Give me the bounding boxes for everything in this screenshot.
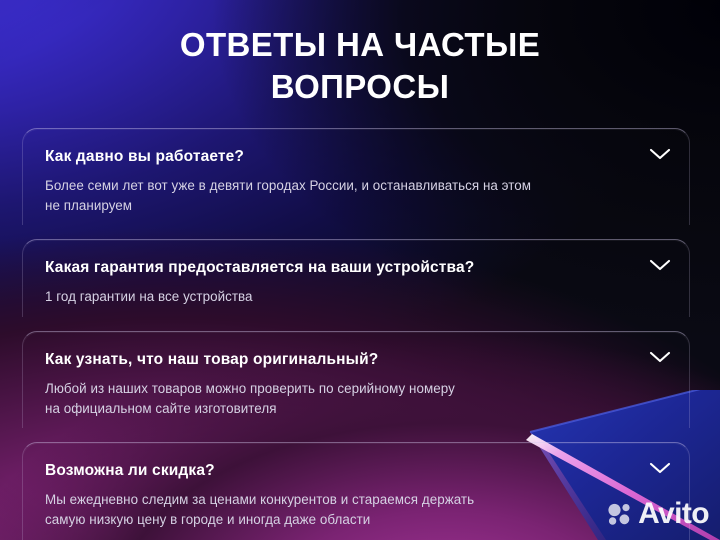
faq-item-3[interactable]: Как узнать, что наш товар оригинальный? …: [22, 331, 690, 428]
faq-answer-2: 1 год гарантии на все устройства: [45, 287, 637, 307]
page-title-line-2: ВОПРОСЫ: [0, 66, 720, 108]
faq-answer-4: Мы ежедневно следим за ценами конкуренто…: [45, 490, 637, 529]
faq-item-2[interactable]: Какая гарантия предоставляется на ваши у…: [22, 239, 690, 317]
chevron-down-icon[interactable]: [649, 461, 671, 475]
faq-answer-1: Более семи лет вот уже в девяти городах …: [45, 176, 637, 215]
chevron-down-icon[interactable]: [649, 258, 671, 272]
faq-answer-3: Любой из наших товаров можно проверить п…: [45, 379, 637, 418]
faq-item-1[interactable]: Как давно вы работаете? Более семи лет в…: [22, 128, 690, 225]
chevron-down-icon[interactable]: [649, 147, 671, 161]
faq-item-4[interactable]: Возможна ли скидка? Мы ежедневно следим …: [22, 442, 690, 539]
chevron-down-icon[interactable]: [649, 350, 671, 364]
avito-wordmark: Avito: [638, 499, 709, 529]
faq-question-3: Как узнать, что наш товар оригинальный?: [45, 350, 637, 370]
page-title-line-1: ОТВЕТЫ НА ЧАСТЫЕ: [180, 26, 540, 63]
faq-question-4: Возможна ли скидка?: [45, 461, 637, 481]
avito-dots-icon: [607, 503, 633, 525]
faq-page: ОТВЕТЫ НА ЧАСТЫЕ ВОПРОСЫ Как давно вы ра…: [0, 0, 720, 540]
faq-question-1: Как давно вы работаете?: [45, 147, 637, 167]
faq-question-2: Какая гарантия предоставляется на ваши у…: [45, 258, 637, 278]
avito-watermark: Avito: [607, 499, 709, 529]
page-title: ОТВЕТЫ НА ЧАСТЫЕ ВОПРОСЫ: [0, 24, 720, 107]
faq-accordion: Как давно вы работаете? Более семи лет в…: [22, 128, 690, 540]
